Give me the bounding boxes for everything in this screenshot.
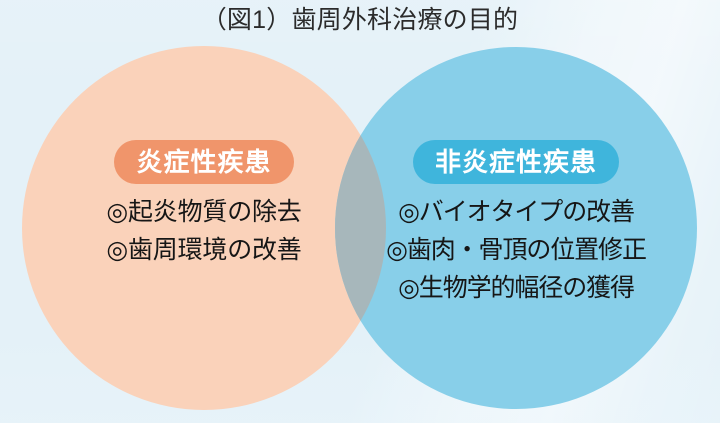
right-content-column: 非炎症性疾患 ◎バイオタイプの改善 ◎歯肉・骨頂の位置修正 ◎生物学的幅径の獲得 (335, 140, 697, 307)
left-content-column: 炎症性疾患 ◎起炎物質の除去 ◎歯周環境の改善 (22, 140, 386, 269)
list-item: ◎歯周環境の改善 (22, 231, 386, 269)
figure-container: （図1）歯周外科治療の目的 炎症性疾患 ◎起炎物質の除去 ◎歯周環境の改善 非炎… (0, 0, 720, 423)
left-item-list: ◎起炎物質の除去 ◎歯周環境の改善 (22, 193, 386, 269)
badge-inflammatory-disease: 炎症性疾患 (114, 140, 293, 184)
right-item-list: ◎バイオタイプの改善 ◎歯肉・骨頂の位置修正 ◎生物学的幅径の獲得 (335, 193, 697, 307)
list-item: ◎バイオタイプの改善 (335, 193, 697, 231)
list-item: ◎歯肉・骨頂の位置修正 (335, 231, 697, 269)
list-item: ◎生物学的幅径の獲得 (335, 269, 697, 307)
badge-non-inflammatory-disease: 非炎症性疾患 (413, 140, 619, 184)
list-item: ◎起炎物質の除去 (22, 193, 386, 231)
